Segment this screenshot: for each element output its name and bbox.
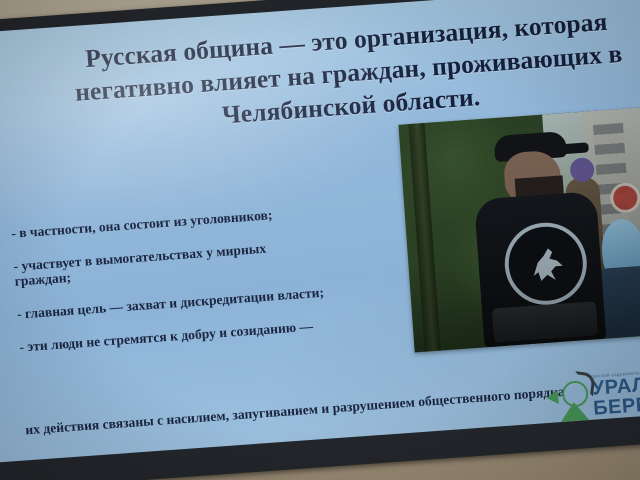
- photo-man-jacket: [474, 191, 606, 349]
- slide-surface: Русская община — это организация, котора…: [0, 0, 640, 463]
- bullet-item: - эти люди не стремятся к добру и созида…: [19, 314, 391, 356]
- photo-man: [466, 129, 609, 348]
- photo-of-presentation-slide: Русская община — это организация, котора…: [0, 0, 640, 480]
- slide-inset-photograph: [398, 106, 640, 353]
- logo-arm: [546, 390, 559, 405]
- bullet-item: - участвует в вымогательствах у мирных г…: [13, 233, 386, 289]
- projection-screen: Русская община — это организация, котора…: [0, 0, 640, 480]
- logo-wordmark: детский оздоровительный комплекс УРАЛЬСК…: [591, 363, 640, 420]
- photo-tree-trunk: [408, 117, 441, 352]
- photo-man-gear-belt: [492, 301, 598, 342]
- slide-bullet-list: - в частности, она состоит из уголовнико…: [11, 200, 393, 373]
- russkaya-obshchina-patch-icon: [502, 220, 590, 308]
- bullet-item: - главная цель — захват и дискредитации …: [17, 281, 389, 323]
- patch-rider-figure-icon: [524, 242, 567, 285]
- logo-dress: [559, 401, 590, 423]
- bullet-item: - в частности, она состоит из уголовнико…: [11, 200, 383, 242]
